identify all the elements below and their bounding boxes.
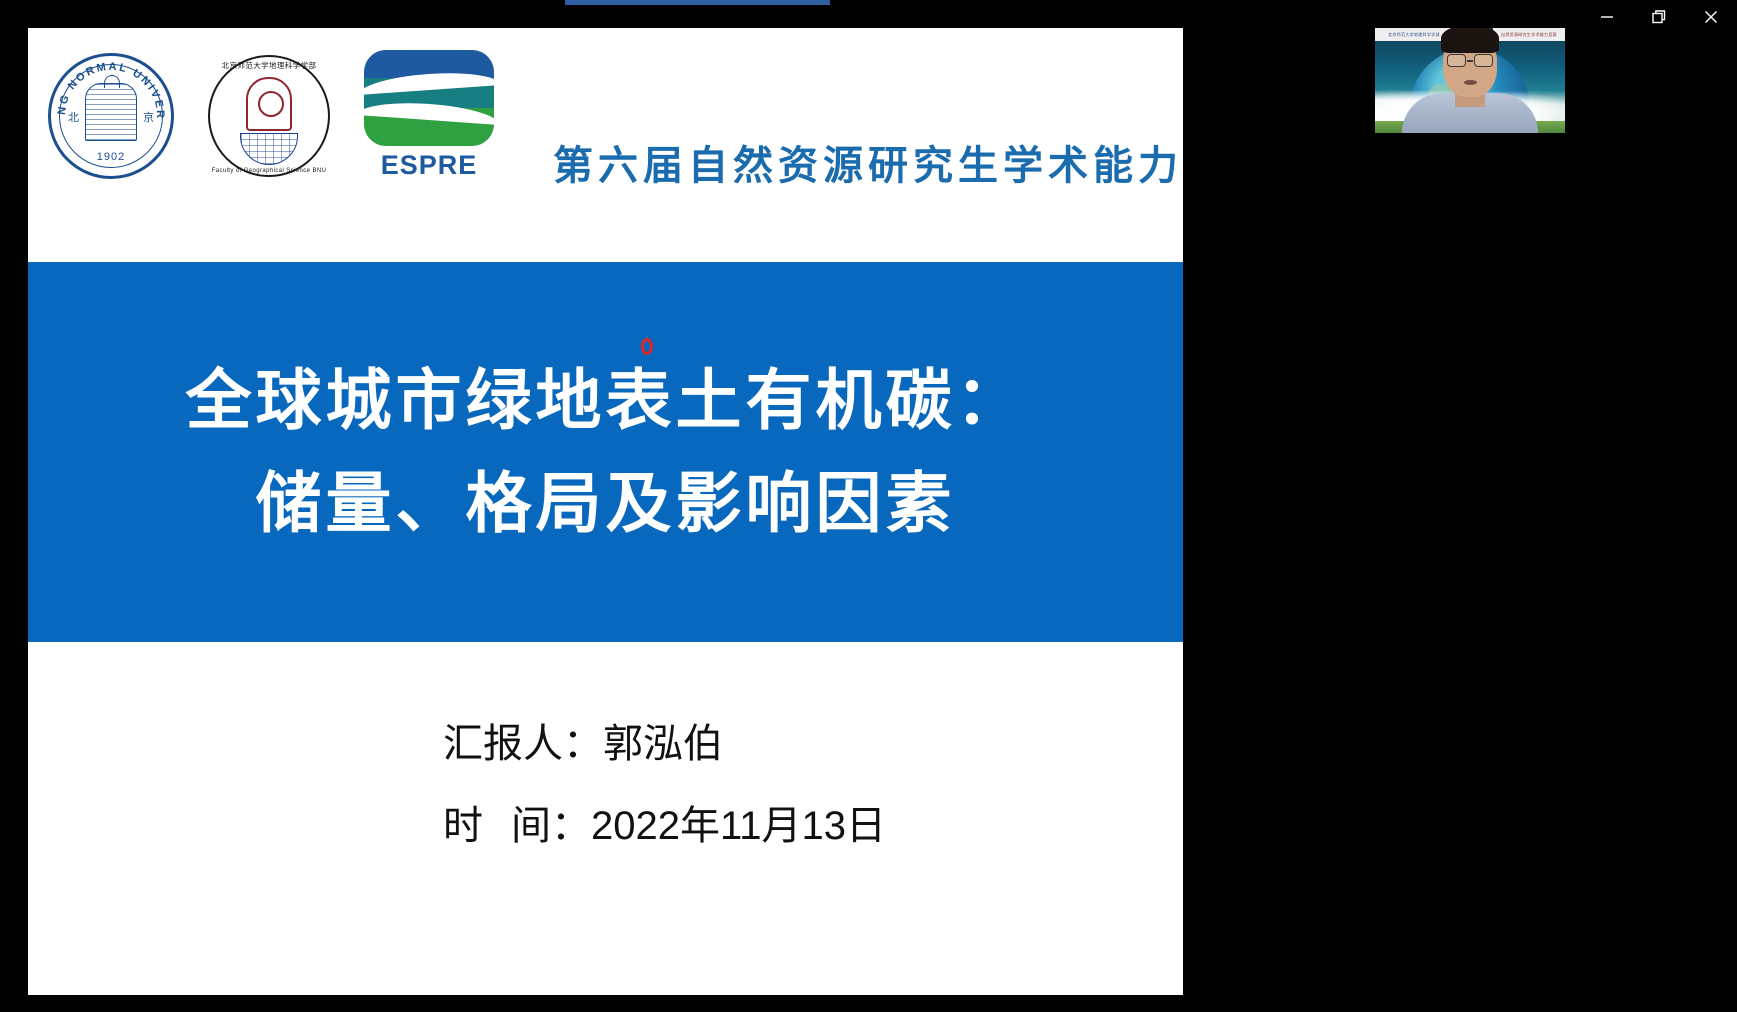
geo-seal-bell-emblem (246, 77, 292, 131)
slide-title-band: 全球城市绿地表土有机碳： 储量、格局及影响因素 (28, 262, 1183, 642)
presenter-label: 汇报人： (443, 722, 603, 766)
espre-wave-mark (364, 50, 494, 146)
slide-title-line-1: 全球城市绿地表土有机碳： (186, 366, 1026, 435)
laser-pointer-cursor (641, 338, 653, 355)
faculty-of-geographical-science-seal-icon: 北京师范大学地理科学学部 Faculty of Geographical Sci… (206, 53, 332, 179)
event-title: 第六届自然资源研究生学术能力竞赛 (553, 133, 1183, 191)
beijing-normal-university-seal-icon: 北 京 1902 BEIJING NORMAL UNIVERSITY (48, 53, 174, 179)
restore-button[interactable] (1633, 0, 1685, 34)
geo-seal-bottom-text: Faculty of Geographical Science BNU (206, 168, 332, 174)
minimize-icon (1598, 8, 1616, 26)
close-icon (1702, 8, 1720, 26)
presenter-name: 郭泓伯 (603, 722, 723, 766)
restore-icon (1650, 8, 1668, 26)
presenter-figure (1375, 28, 1565, 133)
presenter-mouth (1464, 80, 1477, 85)
screen-root: 北京师范大学地理科学学部 自然资源研究生学术能力竞赛 北 (0, 0, 1737, 1012)
date-line: 时间：2022年11月13日 (443, 806, 1183, 846)
presentation-slide[interactable]: 北 京 1902 BEIJING NORMAL UNIVERSITY (28, 28, 1183, 995)
presenter-video-tile[interactable]: 北京师范大学地理科学学部 自然资源研究生学术能力竞赛 (1375, 28, 1565, 133)
eyeglasses-left-lens (1447, 54, 1466, 67)
eyeglasses-bridge (1467, 60, 1473, 62)
window-controls (1581, 0, 1737, 34)
seal-arc-text: BEIJING NORMAL UNIVERSITY (48, 53, 174, 179)
presenter-hair (1441, 28, 1499, 53)
svg-text:BEIJING NORMAL UNIVERSITY: BEIJING NORMAL UNIVERSITY (48, 53, 166, 120)
date-label-b: 间： (511, 804, 591, 848)
eyeglasses-right-lens (1474, 54, 1493, 67)
espre-wordmark: ESPRE (364, 150, 494, 181)
slide-title-line-2: 储量、格局及影响因素 (256, 469, 956, 538)
date-label-a: 时 (443, 804, 483, 848)
slide-footer: 汇报人：郭泓伯 时间：2022年11月13日 (28, 642, 1183, 995)
espre-logo-icon: ESPRE (364, 50, 506, 182)
presentation-progress-bar (565, 0, 830, 5)
geo-seal-top-text: 北京师范大学地理科学学部 (206, 60, 332, 71)
minimize-button[interactable] (1581, 0, 1633, 34)
close-button[interactable] (1685, 0, 1737, 34)
presenter-line: 汇报人：郭泓伯 (443, 724, 1183, 764)
slide-header: 北 京 1902 BEIJING NORMAL UNIVERSITY (28, 28, 1183, 262)
date-value: 2022年11月13日 (591, 804, 886, 848)
logo-row: 北 京 1902 BEIJING NORMAL UNIVERSITY (48, 50, 506, 182)
